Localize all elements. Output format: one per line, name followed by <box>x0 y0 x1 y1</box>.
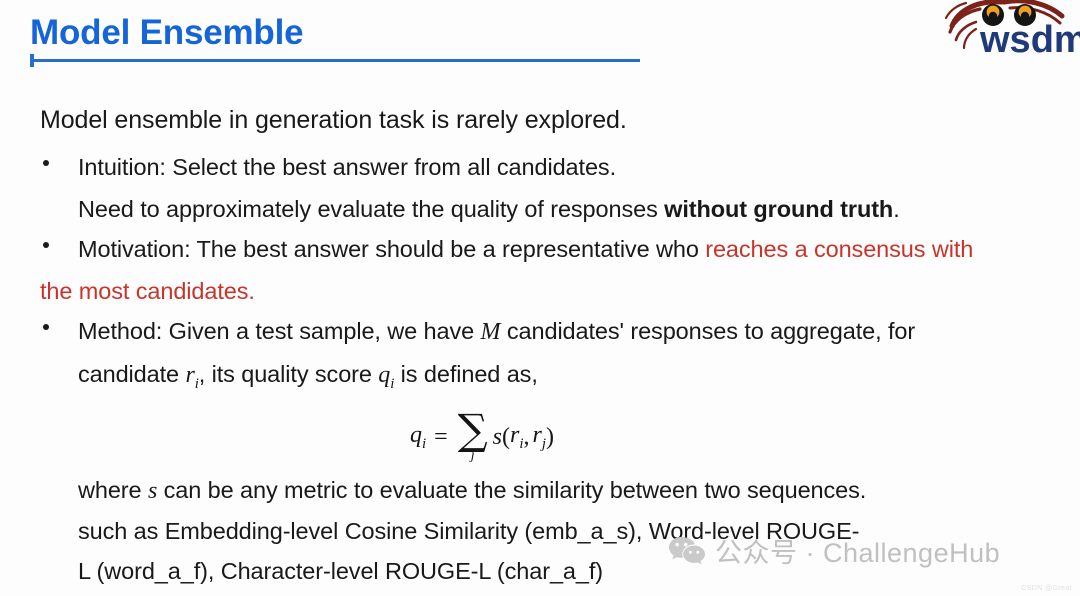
formula-open-paren: ( <box>502 424 510 451</box>
intuition-line-2-prefix: Need to approximately evaluate the quali… <box>78 196 664 222</box>
formula-summation: ∑ j <box>458 412 488 463</box>
closing-line-1: where s can be any metric to evaluate th… <box>40 470 1050 511</box>
slide-body: Model ensemble in generation task is rar… <box>40 104 1050 591</box>
wsdm-wordmark: wsdm <box>979 19 1080 61</box>
motivation-line-2: the most candidates. <box>40 271 1050 311</box>
method-line-2: candidate ri, its quality score qi is de… <box>40 354 1050 404</box>
intuition-line-1: Intuition: Select the best answer from a… <box>78 147 1050 187</box>
slide-canvas: Model Ensemble wsdm <box>0 0 1080 596</box>
motivation-line-1-prefix: Motivation: The best answer should be a … <box>78 236 705 262</box>
lead-statement: Model ensemble in generation task is rar… <box>40 104 1050 137</box>
method-line-2-part-a: candidate <box>78 361 185 387</box>
formula-function: s <box>493 424 502 451</box>
title-block: Model Ensemble <box>30 12 670 72</box>
bullet-motivation: Motivation: The best answer should be a … <box>40 229 1050 269</box>
bullet-method: Method: Given a test sample, we have M c… <box>40 311 1050 352</box>
method-line-2-part-c: is defined as, <box>394 361 538 387</box>
method-line-1: Method: Given a test sample, we have M c… <box>78 311 1050 352</box>
intuition-bold-emphasis: without ground truth <box>664 196 893 222</box>
watermark-text: 公众号 · ChallengeHub <box>715 531 1000 570</box>
motivation-line-1: Motivation: The best answer should be a … <box>78 229 1050 269</box>
wsdm-logo-svg: wsdm <box>944 0 1080 62</box>
method-var-r-i: ri <box>185 362 198 388</box>
formula-lhs: qi <box>410 422 426 453</box>
wechat-watermark: 公众号 · ChallengeHub <box>668 531 1000 570</box>
closing-line-1-part-a: where <box>78 477 148 503</box>
method-line-1-part-b: candidates' responses to aggregate, for <box>500 318 915 344</box>
quality-score-formula: qi = ∑ j s(ri,rj) <box>40 410 1050 466</box>
sigma-icon: ∑ <box>458 412 488 448</box>
intuition-line-2-suffix: . <box>893 196 899 222</box>
formula-expression: qi = ∑ j s(ri,rj) <box>410 412 554 463</box>
method-line-2-part-b: , its quality score <box>199 361 379 387</box>
csdn-watermark: CSDN @Great <box>1021 585 1072 592</box>
formula-equals: = <box>434 424 448 451</box>
formula-arg1: ri <box>510 422 523 453</box>
page-title: Model Ensemble <box>30 12 670 54</box>
bullet-dot-icon <box>43 160 49 166</box>
method-var-q-i: qi <box>378 362 394 388</box>
formula-arg2: rj <box>530 422 546 453</box>
title-underline-rule <box>30 59 640 62</box>
wechat-icon <box>668 536 706 566</box>
motivation-highlight-part-1: reaches a consensus with <box>705 236 973 262</box>
intuition-line-2: Need to approximately evaluate the quali… <box>40 189 1050 229</box>
bullet-dot-icon <box>43 324 49 330</box>
sigma-index: j <box>471 449 475 463</box>
wsdm-logo: wsdm <box>944 0 1080 62</box>
title-underline-cap <box>30 54 34 67</box>
bullet-intuition: Intuition: Select the best answer from a… <box>40 147 1050 187</box>
closing-var-s: s <box>148 478 157 504</box>
method-var-M: M <box>481 319 501 345</box>
bullet-dot-icon <box>43 242 49 248</box>
method-line-1-part-a: Method: Given a test sample, we have <box>78 318 481 344</box>
motivation-highlight-part-2: the most candidates. <box>40 278 255 304</box>
closing-line-1-part-b: can be any metric to evaluate the simila… <box>157 477 866 503</box>
formula-close-paren: ) <box>546 424 554 451</box>
